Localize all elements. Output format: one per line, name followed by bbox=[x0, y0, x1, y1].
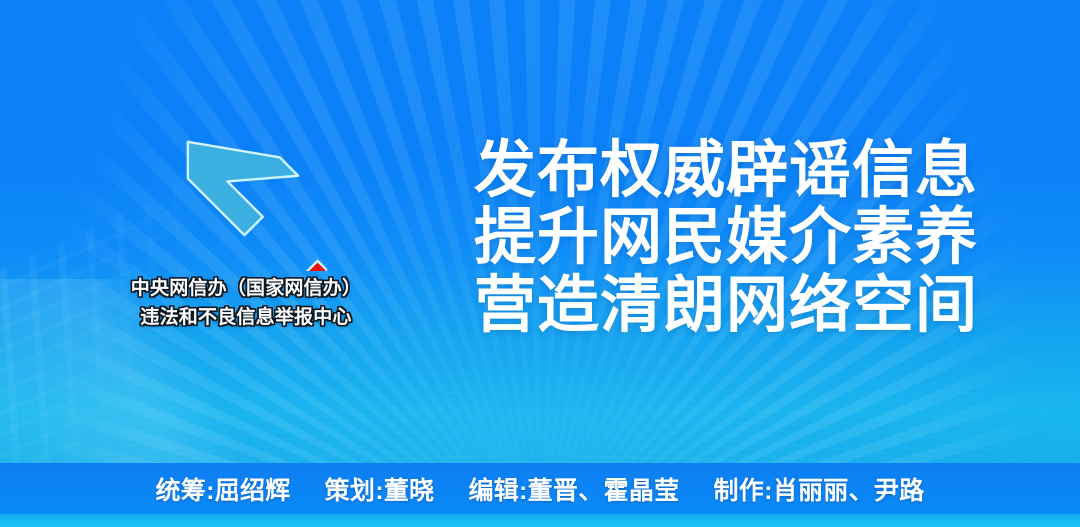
footer-bottom-strip bbox=[0, 514, 1080, 527]
report-center-logo-icon bbox=[165, 131, 327, 271]
logo-caption-line-1: 中央网信办（国家网信办） bbox=[96, 278, 396, 300]
rumor-refutation-banner: 中央网信办（国家网信办） 违法和不良信息举报中心 发布权威辟谣信息 提升网民媒介… bbox=[0, 0, 1080, 527]
logo-block: 中央网信办（国家网信办） 违法和不良信息举报中心 bbox=[96, 131, 396, 329]
credit-editor: 编辑:董晋、霍晶莹 bbox=[468, 471, 679, 507]
headline-line-3: 营造清朗网络空间 bbox=[474, 271, 974, 338]
logo-caption-line-2: 违法和不良信息举报中心 bbox=[96, 307, 396, 329]
credit-production: 制作:肖丽丽、尹路 bbox=[713, 471, 924, 507]
credit-planner: 策划:董晓 bbox=[325, 471, 435, 507]
credit-producer: 统筹:屈绍辉 bbox=[155, 471, 290, 507]
headline: 发布权威辟谣信息 提升网民媒介素养 营造清朗网络空间 bbox=[474, 136, 974, 338]
headline-line-2: 提升网民媒介素养 bbox=[474, 203, 974, 270]
headline-line-1: 发布权威辟谣信息 bbox=[474, 136, 974, 203]
footer-credits: 统筹:屈绍辉 策划:董晓 编辑:董晋、霍晶莹 制作:肖丽丽、尹路 bbox=[155, 471, 924, 507]
footer-credits-bar: 统筹:屈绍辉 策划:董晓 编辑:董晋、霍晶莹 制作:肖丽丽、尹路 bbox=[0, 463, 1080, 514]
